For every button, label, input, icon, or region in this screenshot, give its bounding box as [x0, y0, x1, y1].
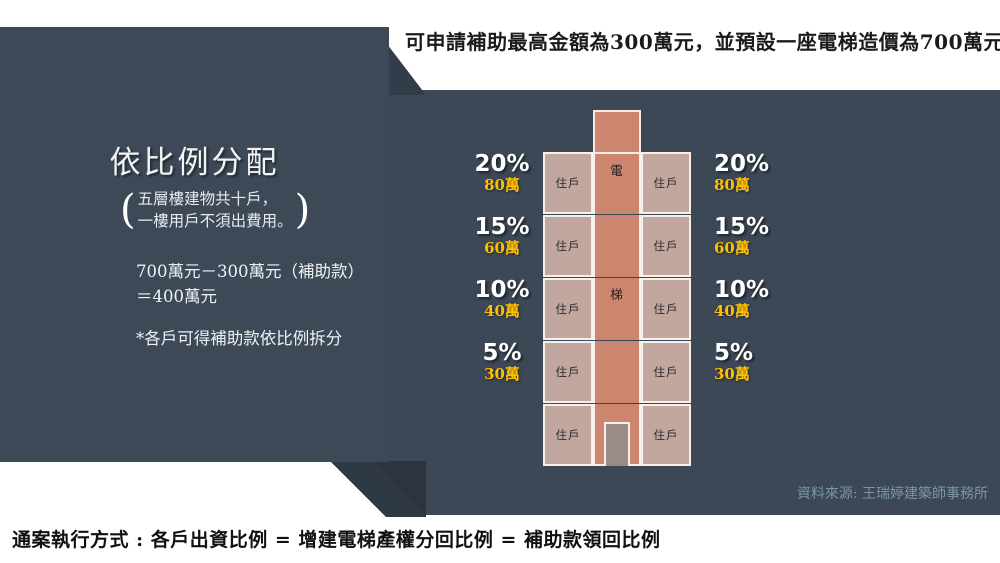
- elevator-shaft-segment: 電: [593, 152, 641, 214]
- unit-cell: 住戶: [543, 341, 593, 403]
- bottom-caption: 通案執行方式 : 各戶出資比例 = 增建電梯產權分回比例 = 補助款領回比例: [12, 525, 661, 552]
- left-panel-calculation: 700萬元－300萬元（補助款） ＝400萬元: [136, 260, 364, 310]
- building-floor-3: 住戶 梯 住戶: [543, 278, 691, 340]
- unit-cell: 住戶: [641, 215, 691, 277]
- percentage-label-floor-3: 10% 40萬: [466, 278, 538, 322]
- left-panel-title: 依比例分配: [0, 137, 389, 182]
- percentage-value: 15%: [466, 215, 538, 239]
- percentage-value: 15%: [714, 215, 780, 239]
- headline-text: 可申請補助最高金額為300萬元，並預設一座電梯造價為700萬元。: [405, 26, 995, 55]
- percentage-label-floor-5: 20% 80萬: [700, 152, 780, 196]
- percentage-label-floor-4: 15% 60萬: [700, 215, 780, 259]
- paren-close: ): [293, 190, 313, 230]
- percentage-value: 10%: [466, 278, 538, 302]
- elevator-shaft-segment: [593, 215, 641, 277]
- elevator-shaft-segment: [593, 404, 641, 466]
- percentage-value: 5%: [714, 341, 780, 365]
- amount-value: 60萬: [466, 239, 538, 259]
- left-panel-background: [0, 27, 389, 462]
- amount-value: 80萬: [714, 176, 780, 196]
- paren-line-2: 一樓用戶不須出費用。: [138, 212, 293, 230]
- percentage-value: 5%: [466, 341, 538, 365]
- amount-value: 80萬: [466, 176, 538, 196]
- building-floor-4: 住戶 住戶: [543, 215, 691, 277]
- building-floors: 住戶 電 住戶 住戶 住戶 住戶 梯 住戶 住戶 住戶 住戶: [543, 152, 691, 465]
- elevator-label-upper: 梯: [610, 284, 624, 303]
- paren-line-1: 五層樓建物共十戶，: [138, 190, 278, 208]
- amount-value: 40萬: [714, 302, 780, 322]
- amount-value: 60萬: [714, 239, 780, 259]
- percentage-label-floor-5: 20% 80萬: [466, 152, 538, 196]
- calculation-line-2: ＝400萬元: [136, 287, 217, 306]
- building-floor-2: 住戶 住戶: [543, 341, 691, 403]
- percentage-label-floor-4: 15% 60萬: [466, 215, 538, 259]
- calculation-line-1: 700萬元－300萬元（補助款）: [136, 262, 364, 281]
- amount-value: 30萬: [714, 365, 780, 385]
- percentage-value: 20%: [466, 152, 538, 176]
- unit-cell: 住戶: [543, 404, 593, 466]
- percentage-label-floor-3: 10% 40萬: [700, 278, 780, 322]
- unit-cell: 住戶: [641, 278, 691, 340]
- unit-cell: 住戶: [641, 152, 691, 214]
- building-floor-1: 住戶 住戶: [543, 404, 691, 466]
- building-diagram: 住戶 電 住戶 住戶 住戶 住戶 梯 住戶 住戶 住戶 住戶: [543, 110, 691, 465]
- percentage-value: 10%: [714, 278, 780, 302]
- building-floor-5: 住戶 電 住戶: [543, 152, 691, 214]
- elevator-shaft-segment: [593, 341, 641, 403]
- left-panel-parenthetical: ( 五層樓建物共十戶， 一樓用戶不須出費用。 ): [118, 188, 348, 233]
- building-entrance-door: [604, 422, 630, 466]
- percentage-label-floor-2: 5% 30萬: [466, 341, 538, 385]
- amount-value: 40萬: [466, 302, 538, 322]
- elevator-shaft-segment: 梯: [593, 278, 641, 340]
- paren-text-block: 五層樓建物共十戶， 一樓用戶不須出費用。: [138, 188, 293, 233]
- paren-open: (: [118, 190, 138, 230]
- unit-cell: 住戶: [543, 152, 593, 214]
- left-panel-note: *各戶可得補助款依比例拆分: [136, 325, 342, 349]
- unit-cell: 住戶: [641, 341, 691, 403]
- amount-value: 30萬: [466, 365, 538, 385]
- percentage-value: 20%: [714, 152, 780, 176]
- elevator-penthouse: [593, 110, 641, 154]
- source-attribution: 資料來源: 王瑞婷建築師事務所: [700, 483, 988, 503]
- unit-cell: 住戶: [641, 404, 691, 466]
- percentage-label-floor-2: 5% 30萬: [700, 341, 780, 385]
- unit-cell: 住戶: [543, 215, 593, 277]
- unit-cell: 住戶: [543, 278, 593, 340]
- elevator-label-lower: 電: [610, 160, 624, 179]
